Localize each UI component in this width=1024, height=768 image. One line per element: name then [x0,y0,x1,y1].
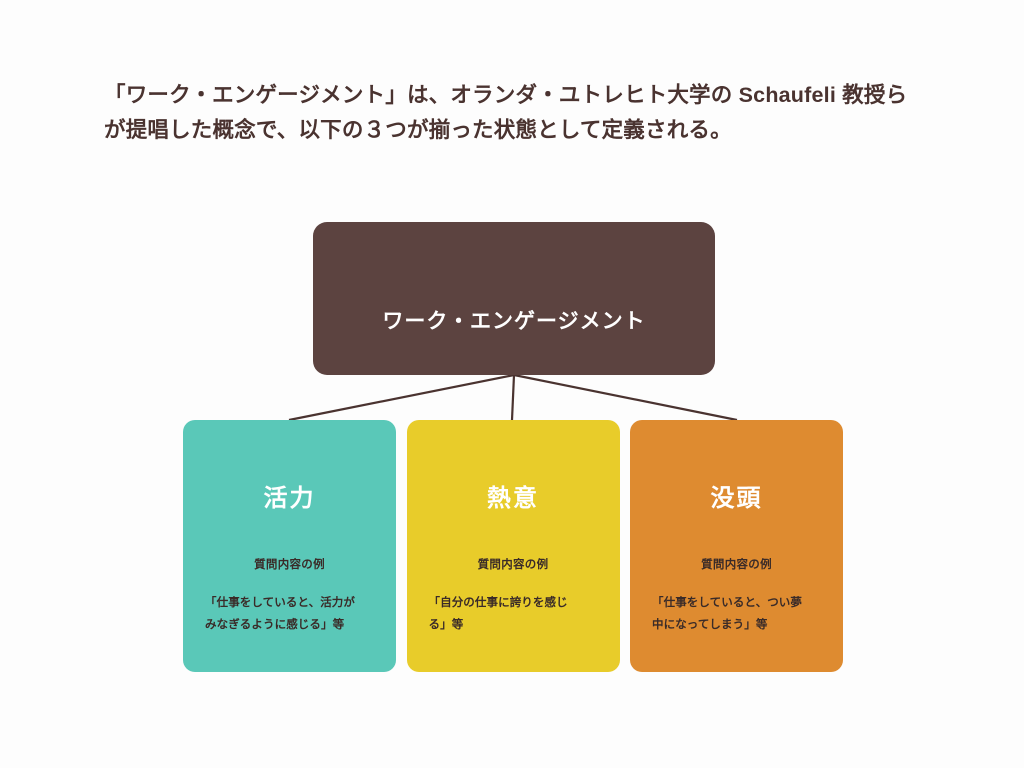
child-node-group: 活力 質問内容の例 「仕事をしていると、活力が みなぎるように感じる」等 熱意 … [183,420,843,672]
child-node-example: 「自分の仕事に誇りを感じ る」等 [429,592,602,637]
child-example-line-2: みなぎるように感じる」等 [205,614,378,636]
connector-line-right [514,375,737,420]
child-node-sublabel: 質問内容の例 [183,556,396,572]
heading-line-1: 「ワーク・エンゲージメント」は、オランダ・ユトレヒト大学の Schaufeli … [104,78,934,113]
child-example-line-1: 「自分の仕事に誇りを感じ [429,592,602,614]
child-node-absorption[interactable]: 没頭 質問内容の例 「仕事をしていると、つい夢 中になってしまう」等 [630,420,843,672]
child-node-title: 熱意 [407,478,620,513]
child-node-vigor[interactable]: 活力 質問内容の例 「仕事をしていると、活力が みなぎるように感じる」等 [183,420,396,672]
child-node-example: 「仕事をしていると、つい夢 中になってしまう」等 [652,592,825,637]
slide-canvas: 「ワーク・エンゲージメント」は、オランダ・ユトレヒト大学の Schaufeli … [0,0,1024,768]
child-example-line-2: 中になってしまう」等 [652,614,825,636]
child-example-line-2: る」等 [429,614,602,636]
root-node-work-engagement[interactable]: ワーク・エンゲージメント [313,222,715,375]
child-example-line-1: 「仕事をしていると、活力が [205,592,378,614]
child-node-title: 活力 [183,478,396,513]
connector-line-center [512,375,514,420]
child-example-line-1: 「仕事をしていると、つい夢 [652,592,825,614]
page-title: 「ワーク・エンゲージメント」は、オランダ・ユトレヒト大学の Schaufeli … [104,78,934,148]
child-node-sublabel: 質問内容の例 [407,556,620,572]
root-node-label: ワーク・エンゲージメント [382,305,645,335]
child-node-example: 「仕事をしていると、活力が みなぎるように感じる」等 [205,592,378,637]
child-node-title: 没頭 [630,478,843,513]
child-node-sublabel: 質問内容の例 [630,556,843,572]
heading-line-2: が提唱した概念で、以下の３つが揃った状態として定義される。 [104,113,934,148]
connector-line-left [289,375,514,420]
child-node-dedication[interactable]: 熱意 質問内容の例 「自分の仕事に誇りを感じ る」等 [407,420,620,672]
